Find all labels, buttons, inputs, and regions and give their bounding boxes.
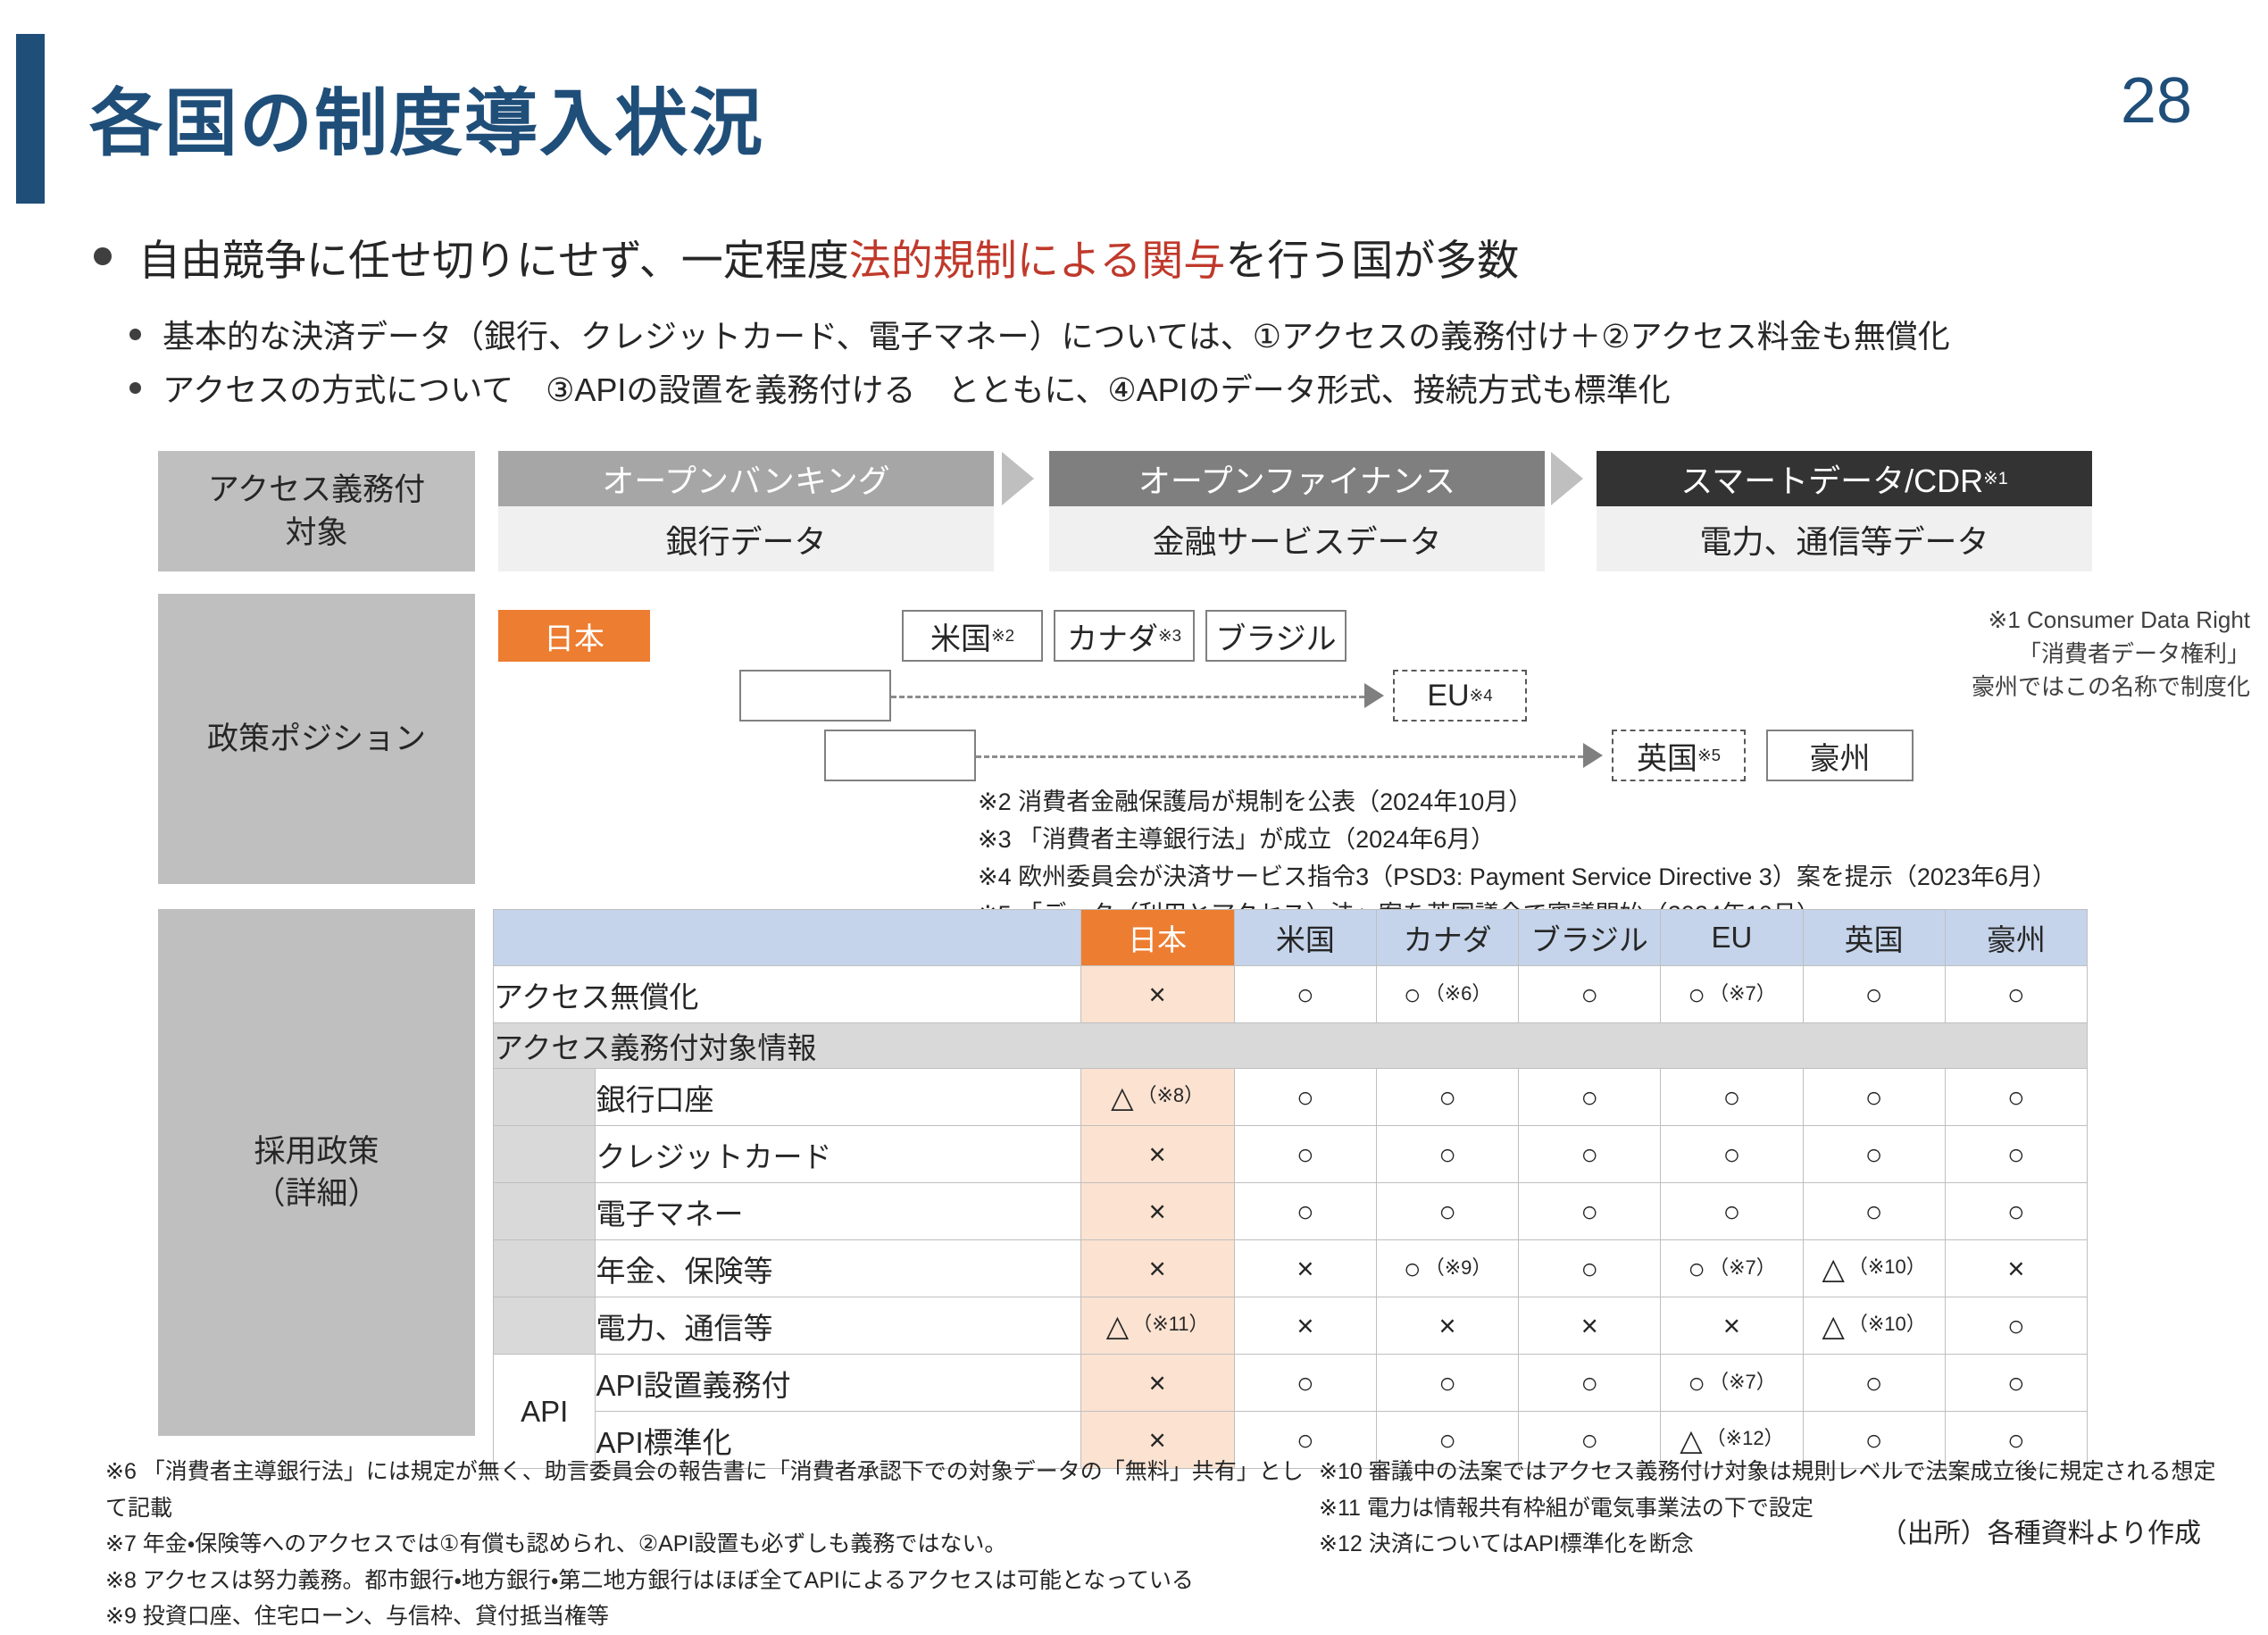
bullet-dot-icon bbox=[94, 247, 112, 265]
table-mark: ○ bbox=[1580, 1252, 1598, 1286]
table-mark: × bbox=[1149, 1195, 1166, 1229]
table-cell[interactable]: ○ bbox=[1803, 1126, 1945, 1183]
table-mark-glyph: ○ bbox=[1297, 1366, 1314, 1400]
table-mark-glyph: ○ bbox=[1688, 1366, 1705, 1400]
table-mark-glyph: ○ bbox=[1580, 1138, 1598, 1172]
band-chevron-icon bbox=[998, 451, 1038, 506]
table-cell[interactable]: ○（※7） bbox=[1661, 1240, 1803, 1297]
cdr-note: ※1 Consumer Data Right 「消費者データ権利」 豪州ではこの… bbox=[1750, 604, 2250, 705]
table-indent-spacer bbox=[494, 1297, 596, 1355]
table-cell[interactable]: ○ bbox=[1376, 1355, 1518, 1412]
band-title-smart-data: スマートデータ/CDR※1 bbox=[1597, 451, 2092, 506]
table-mark-glyph: × bbox=[1149, 1366, 1166, 1400]
position-box-blank-2 bbox=[824, 730, 976, 781]
table-mark-glyph: ○ bbox=[1297, 1138, 1314, 1172]
table-mark-glyph: × bbox=[1581, 1309, 1598, 1343]
table-cell[interactable]: × bbox=[1080, 1183, 1234, 1240]
table-cell[interactable]: × bbox=[1080, 1240, 1234, 1297]
table-mark: ○ bbox=[1438, 1138, 1456, 1172]
table-header-2[interactable]: 米国 bbox=[1234, 910, 1376, 966]
position-box-eu-sup: ※4 bbox=[1470, 686, 1493, 705]
sub-bullet-1-text: 基本的な決済データ（銀行、クレジットカード、電子マネー）については、①アクセスの… bbox=[163, 311, 1950, 357]
policy-table-wrapper: 日本米国カナダブラジルEU英国豪州アクセス無償化×○○（※6）○○（※7）○○ア… bbox=[493, 909, 2088, 1469]
position-box-japan-label: 日本 bbox=[544, 614, 605, 658]
table-mark: ○ bbox=[1297, 1195, 1314, 1229]
table-indent-spacer bbox=[494, 1069, 596, 1126]
table-mark-glyph: ○ bbox=[1580, 1252, 1598, 1286]
band-subtitle-open-banking: 銀行データ bbox=[498, 506, 994, 571]
table-mark-note: （※8） bbox=[1138, 1080, 1205, 1108]
table-cell[interactable]: ○ bbox=[1234, 966, 1376, 1023]
title-accent-bar bbox=[16, 34, 45, 204]
table-mark: ○ bbox=[1297, 1423, 1314, 1457]
table-mark-note: （※12） bbox=[1706, 1422, 1784, 1451]
table-mark-note: （※7） bbox=[1709, 1366, 1776, 1395]
table-mark: ○ bbox=[1580, 1080, 1598, 1114]
table-indent-spacer bbox=[494, 1126, 596, 1183]
table-mark-glyph: × bbox=[1297, 1252, 1313, 1286]
table-header-5[interactable]: EU bbox=[1661, 910, 1803, 966]
table-mark-glyph: △ bbox=[1680, 1422, 1702, 1457]
table-mark: × bbox=[1723, 1309, 1740, 1343]
cdr-note-line-1: ※1 Consumer Data Right bbox=[1750, 604, 2250, 638]
table-mark: △（※10） bbox=[1822, 1251, 1925, 1286]
main-bullet-highlight: 法的規制による関与 bbox=[849, 237, 1226, 284]
table-cell[interactable]: × bbox=[1080, 1355, 1234, 1412]
table-mark: × bbox=[1297, 1252, 1313, 1286]
table-mark-glyph: ○ bbox=[1865, 978, 1883, 1012]
table-mark: ○ bbox=[2007, 1423, 2025, 1457]
table-mark-glyph: ○ bbox=[1865, 1423, 1883, 1457]
position-box-uk: 英国※5 bbox=[1612, 730, 1746, 781]
table-mark-glyph: × bbox=[1723, 1309, 1740, 1343]
table-mark: × bbox=[1149, 1138, 1166, 1172]
table-header-blank bbox=[494, 910, 1081, 966]
table-header-1[interactable]: 日本 bbox=[1080, 910, 1234, 966]
table-mark-glyph: ○ bbox=[2007, 978, 2025, 1012]
band-title-open-finance: オープンファイナンス bbox=[1049, 451, 1545, 506]
sub-bullet-2: アクセスの方式について ③APIの設置を義務付ける とともに、④APIのデータ形… bbox=[129, 368, 2255, 407]
table-cell[interactable]: × bbox=[1080, 1126, 1234, 1183]
table-cell[interactable]: ○ bbox=[1803, 1069, 1945, 1126]
table-cell[interactable]: △（※10） bbox=[1803, 1240, 1945, 1297]
table-mark-glyph: ○ bbox=[1438, 1366, 1456, 1400]
table-cell[interactable]: ○ bbox=[1661, 1183, 1803, 1240]
footnote-6: ※6 「消費者主導銀行法」には規定が無く、助言委員会の報告書に「消費者承認下での… bbox=[105, 1454, 1311, 1526]
table-cell[interactable]: ○ bbox=[1519, 1183, 1661, 1240]
table-mark-glyph: ○ bbox=[2007, 1080, 2025, 1114]
position-box-eu-label: EU bbox=[1427, 679, 1469, 713]
table-row-label-0: アクセス無償化 bbox=[494, 966, 1081, 1023]
table-mark: ○ bbox=[2007, 978, 2025, 1012]
table-row-label-text: 採用政策（詳細） bbox=[254, 1130, 379, 1215]
position-box-australia-label: 豪州 bbox=[1810, 734, 1871, 778]
table-cell[interactable]: ○ bbox=[1519, 1240, 1661, 1297]
table-cell[interactable]: ○ bbox=[1945, 1297, 2087, 1355]
bullet-dot-icon bbox=[129, 329, 141, 340]
table-mark-glyph: ○ bbox=[1404, 978, 1422, 1012]
position-box-brazil-label: ブラジル bbox=[1215, 614, 1336, 658]
table-cell[interactable]: × bbox=[1234, 1297, 1376, 1355]
table-row: 電力、通信等△（※11）××××△（※10）○ bbox=[494, 1297, 2088, 1355]
position-box-canada-sup: ※3 bbox=[1158, 626, 1181, 646]
table-cell[interactable]: ○ bbox=[1519, 1069, 1661, 1126]
main-bullet: 自由競争に任せ切りにせず、一定程度法的規制による関与を行う国が多数 bbox=[94, 230, 2219, 282]
band-column-open-finance: オープンファイナンス 金融サービスデータ bbox=[1049, 451, 1545, 571]
footnote-7: ※7 年金・保険等へのアクセスでは①有償も認められ、②API設置も必ずしも義務で… bbox=[105, 1526, 1311, 1563]
table-cell[interactable]: ○ bbox=[1519, 1126, 1661, 1183]
table-mark: ○ bbox=[1865, 978, 1883, 1012]
table-cell[interactable]: ○（※9） bbox=[1376, 1240, 1518, 1297]
table-mark-note: （※9） bbox=[1425, 1252, 1492, 1280]
position-box-us-sup: ※2 bbox=[991, 626, 1014, 646]
table-mark: ○（※7） bbox=[1688, 1252, 1776, 1286]
table-cell[interactable]: ○ bbox=[1945, 1355, 2087, 1412]
table-row: 年金、保険等××○（※9）○○（※7）△（※10）× bbox=[494, 1240, 2088, 1297]
table-row: 電子マネー×○○○○○○ bbox=[494, 1183, 2088, 1240]
position-arrow-icon-2 bbox=[1583, 743, 1603, 768]
table-cell[interactable]: △（※10） bbox=[1803, 1297, 1945, 1355]
position-connector-line-1 bbox=[891, 696, 1364, 698]
table-mark: × bbox=[1149, 1252, 1166, 1286]
table-mark-note: （※6） bbox=[1425, 978, 1492, 1006]
position-box-uk-sup: ※5 bbox=[1697, 746, 1721, 765]
table-mark-glyph: ○ bbox=[1404, 1252, 1422, 1286]
table-cell[interactable]: △（※11） bbox=[1080, 1297, 1234, 1355]
table-cell[interactable]: ○ bbox=[1803, 1355, 1945, 1412]
table-mark: ○ bbox=[1580, 978, 1598, 1012]
table-row-label-3: クレジットカード bbox=[596, 1126, 1080, 1183]
table-mark: ○ bbox=[2007, 1138, 2025, 1172]
table-row-label-5: 年金、保険等 bbox=[596, 1240, 1080, 1297]
table-mark-glyph: ○ bbox=[2007, 1423, 2025, 1457]
table-cell[interactable]: ○ bbox=[1519, 966, 1661, 1023]
position-box-japan: 日本 bbox=[498, 610, 650, 662]
main-bullet-text: 自由競争に任せ切りにせず、一定程度法的規制による関与を行う国が多数 bbox=[138, 226, 1519, 288]
table-mark-glyph: × bbox=[2007, 1252, 2024, 1286]
table-header-3[interactable]: カナダ bbox=[1376, 910, 1518, 966]
table-header-6[interactable]: 英国 bbox=[1803, 910, 1945, 966]
table-mark: ○ bbox=[1865, 1138, 1883, 1172]
sub-bullet-1: 基本的な決済データ（銀行、クレジットカード、電子マネー）については、①アクセスの… bbox=[129, 314, 2255, 354]
table-mark-glyph: ○ bbox=[1722, 1080, 1740, 1114]
sub-bullet-2-text: アクセスの方式について ③APIの設置を義務付ける とともに、④APIのデータ形… bbox=[163, 364, 1671, 411]
table-mark-glyph: ○ bbox=[1297, 1423, 1314, 1457]
position-box-australia: 豪州 bbox=[1766, 730, 1914, 781]
table-mark: ○ bbox=[1580, 1195, 1598, 1229]
table-mark-glyph: × bbox=[1149, 1423, 1166, 1457]
table-cell[interactable]: ○ bbox=[1376, 1183, 1518, 1240]
table-mark-glyph: × bbox=[1149, 978, 1166, 1012]
table-mark-glyph: ○ bbox=[1865, 1366, 1883, 1400]
table-cell[interactable]: × bbox=[1376, 1297, 1518, 1355]
table-row-label-2: 銀行口座 bbox=[596, 1069, 1080, 1126]
table-mark: ○ bbox=[2007, 1195, 2025, 1229]
table-mark: △（※10） bbox=[1822, 1308, 1925, 1343]
band-chevron-icon bbox=[1547, 451, 1588, 506]
footnote-8: ※8 アクセスは努力義務。都市銀行・地方銀行・第二地方銀行はほぼ全てAPIによる… bbox=[105, 1563, 1311, 1599]
table-cell[interactable]: ○ bbox=[1945, 966, 2087, 1023]
table-row: 銀行口座△（※8）○○○○○○ bbox=[494, 1069, 2088, 1126]
table-mark: ○ bbox=[2007, 1080, 2025, 1114]
table-mark: ○ bbox=[1722, 1138, 1740, 1172]
table-cell[interactable]: ○ bbox=[1234, 1183, 1376, 1240]
table-indent-spacer bbox=[494, 1240, 596, 1297]
table-mark: ○ bbox=[1865, 1366, 1883, 1400]
table-cell[interactable]: × bbox=[1945, 1240, 2087, 1297]
table-mark: ○ bbox=[1580, 1366, 1598, 1400]
table-group-header: アクセス義務付対象情報 bbox=[494, 1023, 2088, 1069]
table-row-label-7: API設置義務付 bbox=[596, 1355, 1080, 1412]
main-bullet-pre: 自由競争に任せ切りにせず、一定程度 bbox=[138, 237, 849, 284]
band-title-smart-data-text: スマートデータ/CDR bbox=[1680, 455, 1983, 502]
table-mark-glyph: ○ bbox=[1580, 1080, 1598, 1114]
position-box-us-label: 米国 bbox=[930, 614, 991, 658]
table-mark-glyph: ○ bbox=[1297, 978, 1314, 1012]
table-mark-glyph: ○ bbox=[1688, 1252, 1705, 1286]
table-mark: × bbox=[2007, 1252, 2024, 1286]
table-mark: × bbox=[1149, 978, 1166, 1012]
table-mark: ○ bbox=[1865, 1080, 1883, 1114]
position-box-brazil: ブラジル bbox=[1205, 610, 1347, 662]
table-mark: ○ bbox=[1297, 1138, 1314, 1172]
footnote-9: ※9 投資口座、住宅ローン、与信枠、貸付抵当権等 bbox=[105, 1598, 1311, 1635]
position-box-canada: カナダ※3 bbox=[1054, 610, 1195, 662]
table-mark: ○（※7） bbox=[1688, 1366, 1776, 1400]
table-mark-glyph: × bbox=[1149, 1252, 1166, 1286]
table-row: アクセス無償化×○○（※6）○○（※7）○○ bbox=[494, 966, 2088, 1023]
table-mark: ○ bbox=[1722, 1080, 1740, 1114]
table-mark-glyph: ○ bbox=[2007, 1195, 2025, 1229]
table-cell[interactable]: ○（※7） bbox=[1661, 966, 1803, 1023]
position-row-label: 政策ポジション bbox=[158, 594, 475, 884]
table-mark: × bbox=[1149, 1423, 1166, 1457]
band-column-smart-data: スマートデータ/CDR※1 電力、通信等データ bbox=[1597, 451, 2092, 571]
position-box-eu: EU※4 bbox=[1393, 670, 1527, 722]
position-box-us: 米国※2 bbox=[902, 610, 1043, 662]
position-connector-line-2 bbox=[976, 755, 1583, 758]
table-mark: ○ bbox=[1438, 1423, 1456, 1457]
table-mark-glyph: ○ bbox=[1297, 1080, 1314, 1114]
table-cell[interactable]: ○（※7） bbox=[1661, 1355, 1803, 1412]
main-bullet-post: を行う国が多数 bbox=[1225, 237, 1519, 284]
table-mark: ○ bbox=[1865, 1423, 1883, 1457]
table-mark-glyph: ○ bbox=[1688, 978, 1705, 1012]
table-row: クレジットカード×○○○○○○ bbox=[494, 1126, 2088, 1183]
band-column-open-banking: オープンバンキング 銀行データ bbox=[498, 451, 994, 571]
table-mark: ○ bbox=[1580, 1423, 1598, 1457]
table-mark: × bbox=[1438, 1309, 1455, 1343]
table-mark-glyph: ○ bbox=[1438, 1195, 1456, 1229]
table-mark-glyph: ○ bbox=[1580, 978, 1598, 1012]
table-mark: ○ bbox=[1580, 1138, 1598, 1172]
policy-table: 日本米国カナダブラジルEU英国豪州アクセス無償化×○○（※6）○○（※7）○○ア… bbox=[493, 909, 2088, 1469]
table-cell[interactable]: × bbox=[1080, 966, 1234, 1023]
band-subtitle-open-finance: 金融サービスデータ bbox=[1049, 506, 1545, 571]
table-mark: ○ bbox=[2007, 1309, 2025, 1343]
table-indent-group-api: API bbox=[494, 1355, 596, 1469]
table-row-label-6: 電力、通信等 bbox=[596, 1297, 1080, 1355]
table-mark: ○ bbox=[1722, 1195, 1740, 1229]
band-row-label-text: アクセス義務付対象 bbox=[208, 469, 425, 554]
table-mark-glyph: ○ bbox=[1580, 1366, 1598, 1400]
table-mark-glyph: △ bbox=[1822, 1308, 1844, 1343]
table-row-label: 採用政策（詳細） bbox=[158, 909, 475, 1436]
table-mark: ○ bbox=[1438, 1366, 1456, 1400]
position-box-blank-1 bbox=[739, 670, 891, 722]
table-mark: △（※12） bbox=[1680, 1422, 1783, 1457]
source-note: （出所）各種資料より作成 bbox=[1880, 1511, 2201, 1550]
table-mark-glyph: ○ bbox=[1438, 1080, 1456, 1114]
table-mark: × bbox=[1297, 1309, 1313, 1343]
band-subtitle-smart-data: 電力、通信等データ bbox=[1597, 506, 2092, 571]
table-mark-note: （※10） bbox=[1848, 1251, 1926, 1280]
position-note-3: ※3 「消費者主導銀行法」が成立（2024年6月） bbox=[978, 822, 2094, 859]
table-mark: × bbox=[1581, 1309, 1598, 1343]
table-cell[interactable]: × bbox=[1234, 1240, 1376, 1297]
table-mark-glyph: × bbox=[1438, 1309, 1455, 1343]
table-cell[interactable]: ○ bbox=[1803, 966, 1945, 1023]
footnotes-left: ※6 「消費者主導銀行法」には規定が無く、助言委員会の報告書に「消費者承認下での… bbox=[105, 1454, 1311, 1635]
table-mark-note: （※11） bbox=[1132, 1308, 1208, 1337]
table-mark-glyph: ○ bbox=[2007, 1309, 2025, 1343]
position-box-uk-label: 英国 bbox=[1637, 734, 1697, 778]
table-cell[interactable]: ○ bbox=[1376, 1069, 1518, 1126]
table-cell[interactable]: ○ bbox=[1945, 1126, 2087, 1183]
table-row: アクセス義務付対象情報 bbox=[494, 1023, 2088, 1069]
table-header-7[interactable]: 豪州 bbox=[1945, 910, 2087, 966]
table-mark-glyph: ○ bbox=[1722, 1138, 1740, 1172]
position-row-label-text: 政策ポジション bbox=[207, 718, 426, 760]
table-cell[interactable]: ○ bbox=[1661, 1069, 1803, 1126]
table-cell[interactable]: × bbox=[1661, 1297, 1803, 1355]
page-title: 各国の制度導入状況 bbox=[89, 49, 1339, 183]
table-indent-spacer bbox=[494, 1183, 596, 1240]
cdr-note-line-2: 「消費者データ権利」 bbox=[1750, 638, 2250, 672]
table-mark: ○ bbox=[1297, 1080, 1314, 1114]
table-cell[interactable]: △（※8） bbox=[1080, 1069, 1234, 1126]
position-arrow-icon-1 bbox=[1364, 683, 1384, 708]
table-mark: ○ bbox=[1865, 1195, 1883, 1229]
table-mark-note: （※10） bbox=[1848, 1308, 1926, 1337]
table-mark-glyph: ○ bbox=[1438, 1423, 1456, 1457]
table-mark: × bbox=[1149, 1366, 1166, 1400]
bullet-dot-icon bbox=[129, 382, 141, 394]
table-cell[interactable]: ○ bbox=[1234, 1069, 1376, 1126]
table-mark-glyph: ○ bbox=[1580, 1195, 1598, 1229]
table-mark-glyph: ○ bbox=[1865, 1080, 1883, 1114]
table-mark: ○（※9） bbox=[1404, 1252, 1492, 1286]
table-mark-glyph: ○ bbox=[1865, 1195, 1883, 1229]
table-cell[interactable]: ○ bbox=[1661, 1126, 1803, 1183]
table-cell[interactable]: ○ bbox=[1234, 1355, 1376, 1412]
table-row: APIAPI設置義務付×○○○○（※7）○○ bbox=[494, 1355, 2088, 1412]
table-mark: △（※11） bbox=[1106, 1308, 1209, 1343]
footnote-10: ※10 審議中の法案ではアクセス義務付け対象は規則レベルで法案成立後に規定される… bbox=[1319, 1454, 2256, 1490]
table-cell[interactable]: ○ bbox=[1945, 1069, 2087, 1126]
table-mark-note: （※7） bbox=[1709, 978, 1776, 1006]
table-mark-glyph: ○ bbox=[1438, 1138, 1456, 1172]
table-cell[interactable]: × bbox=[1519, 1297, 1661, 1355]
table-mark: ○（※7） bbox=[1688, 978, 1776, 1012]
table-mark-glyph: × bbox=[1297, 1309, 1313, 1343]
table-cell[interactable]: ○ bbox=[1945, 1183, 2087, 1240]
band-title-smart-data-sup: ※1 bbox=[1983, 468, 2008, 489]
table-mark-glyph: ○ bbox=[1865, 1138, 1883, 1172]
table-mark: ○ bbox=[1438, 1195, 1456, 1229]
position-note-4: ※4 欧州委員会が決済サービス指令3（PSD3: Payment Service… bbox=[978, 859, 2094, 897]
table-mark-glyph: ○ bbox=[1580, 1423, 1598, 1457]
table-mark-glyph: △ bbox=[1822, 1251, 1844, 1286]
table-mark-glyph: ○ bbox=[1722, 1195, 1740, 1229]
table-header-4[interactable]: ブラジル bbox=[1519, 910, 1661, 966]
position-note-2: ※2 消費者金融保護局が規制を公表（2024年10月） bbox=[978, 784, 2094, 822]
table-cell[interactable]: ○（※6） bbox=[1376, 966, 1518, 1023]
table-mark-glyph: × bbox=[1149, 1138, 1166, 1172]
table-cell[interactable]: ○ bbox=[1519, 1355, 1661, 1412]
table-mark: ○ bbox=[1438, 1080, 1456, 1114]
table-mark: ○（※6） bbox=[1404, 978, 1492, 1012]
table-mark: ○ bbox=[1297, 978, 1314, 1012]
table-header-row: 日本米国カナダブラジルEU英国豪州 bbox=[494, 910, 2088, 966]
cdr-note-line-3: 豪州ではこの名称で制度化 bbox=[1750, 671, 2250, 705]
table-mark-glyph: ○ bbox=[1297, 1195, 1314, 1229]
table-mark-glyph: × bbox=[1149, 1195, 1166, 1229]
table-cell[interactable]: ○ bbox=[1803, 1183, 1945, 1240]
table-mark: ○ bbox=[1297, 1366, 1314, 1400]
table-cell[interactable]: ○ bbox=[1234, 1126, 1376, 1183]
table-mark: △（※8） bbox=[1111, 1080, 1204, 1114]
table-cell[interactable]: ○ bbox=[1376, 1126, 1518, 1183]
table-row-label-4: 電子マネー bbox=[596, 1183, 1080, 1240]
table-mark-glyph: △ bbox=[1106, 1308, 1129, 1343]
table-mark-glyph: △ bbox=[1111, 1080, 1133, 1114]
position-box-canada-label: カナダ bbox=[1067, 614, 1158, 658]
band-title-open-banking: オープンバンキング bbox=[498, 451, 994, 506]
table-mark-glyph: ○ bbox=[2007, 1366, 2025, 1400]
table-mark-note: （※7） bbox=[1709, 1252, 1776, 1280]
table-mark-glyph: ○ bbox=[2007, 1138, 2025, 1172]
page-number: 28 bbox=[2014, 64, 2192, 138]
table-mark: ○ bbox=[2007, 1366, 2025, 1400]
band-row-label: アクセス義務付対象 bbox=[158, 451, 475, 571]
